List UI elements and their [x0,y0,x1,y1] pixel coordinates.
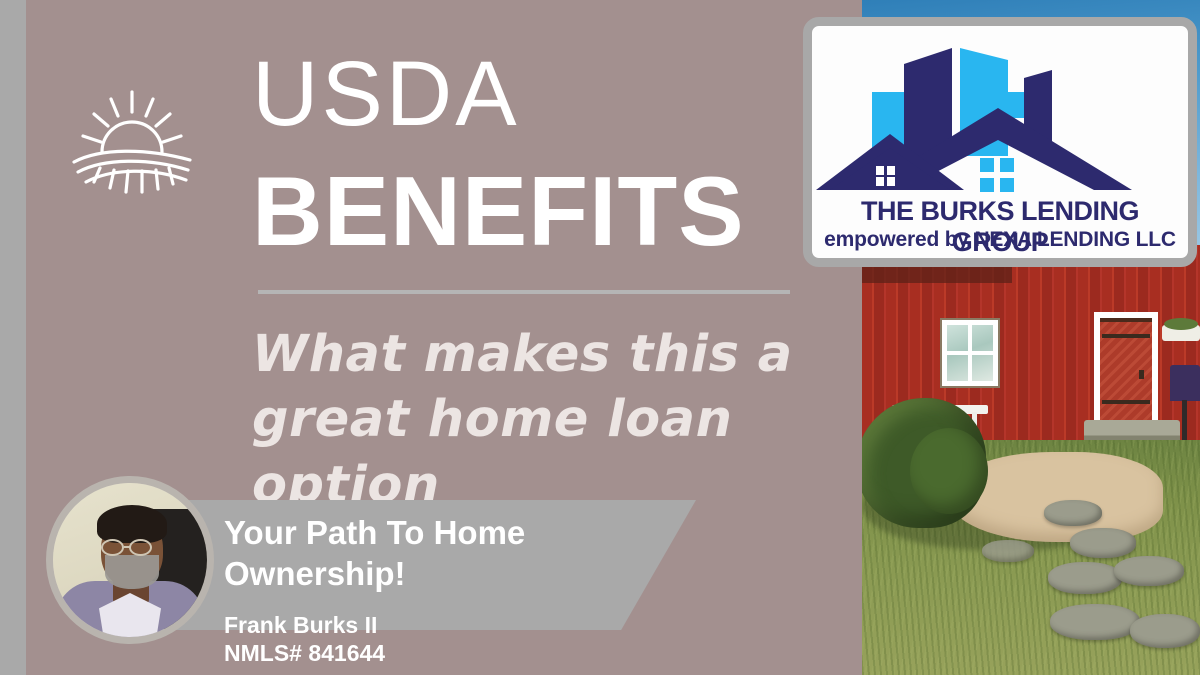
title-divider [258,290,790,294]
left-edge-strip [0,0,26,675]
stepping-stone [1070,528,1136,558]
cta-banner-title: Your Path To Home Ownership! [224,512,644,595]
flyer-canvas: USDA BENEFITS What makes this a great ho… [0,0,1200,675]
stepping-stone [1048,562,1122,594]
avatar-eyeglass-left [101,539,124,556]
stepping-stone [1050,604,1140,640]
door-hinge-top [1102,334,1150,338]
stepping-stone [1114,556,1184,586]
stepping-stone [1130,614,1200,648]
avatar-hair [97,505,167,543]
window-mullion-horizontal [947,351,993,355]
subtitle-text: What makes this a great home loan option [252,322,812,518]
agent-nmls-number: NMLS# 841644 [224,638,385,669]
avatar [46,476,214,644]
stepping-stone [982,540,1034,562]
eave-shadow [862,267,1012,283]
agent-name: Frank Burks II [224,610,377,641]
company-logo-card: THE BURKS LENDING GROUP empowered by NEX… [803,17,1197,267]
page-title-usda: USDA [252,48,520,140]
avatar-eyeglass-right [129,539,152,556]
avatar-beard [105,555,159,589]
buildings-and-rooftops-logo-icon [812,30,1188,202]
logo-tagline: empowered by NEXA LENDING LLC [812,228,1188,252]
page-title-benefits: BENEFITS [252,162,745,260]
door-hinge-bottom [1102,400,1150,404]
planter-foliage [1164,318,1198,330]
house-window [942,320,998,386]
door-handle [1139,370,1144,379]
stepping-stone [1044,500,1102,526]
garden-bush-secondary [910,428,988,514]
avatar-eyeglass-bridge [124,546,130,548]
mailbox [1170,365,1200,401]
sunrise-field-icon [72,88,192,198]
